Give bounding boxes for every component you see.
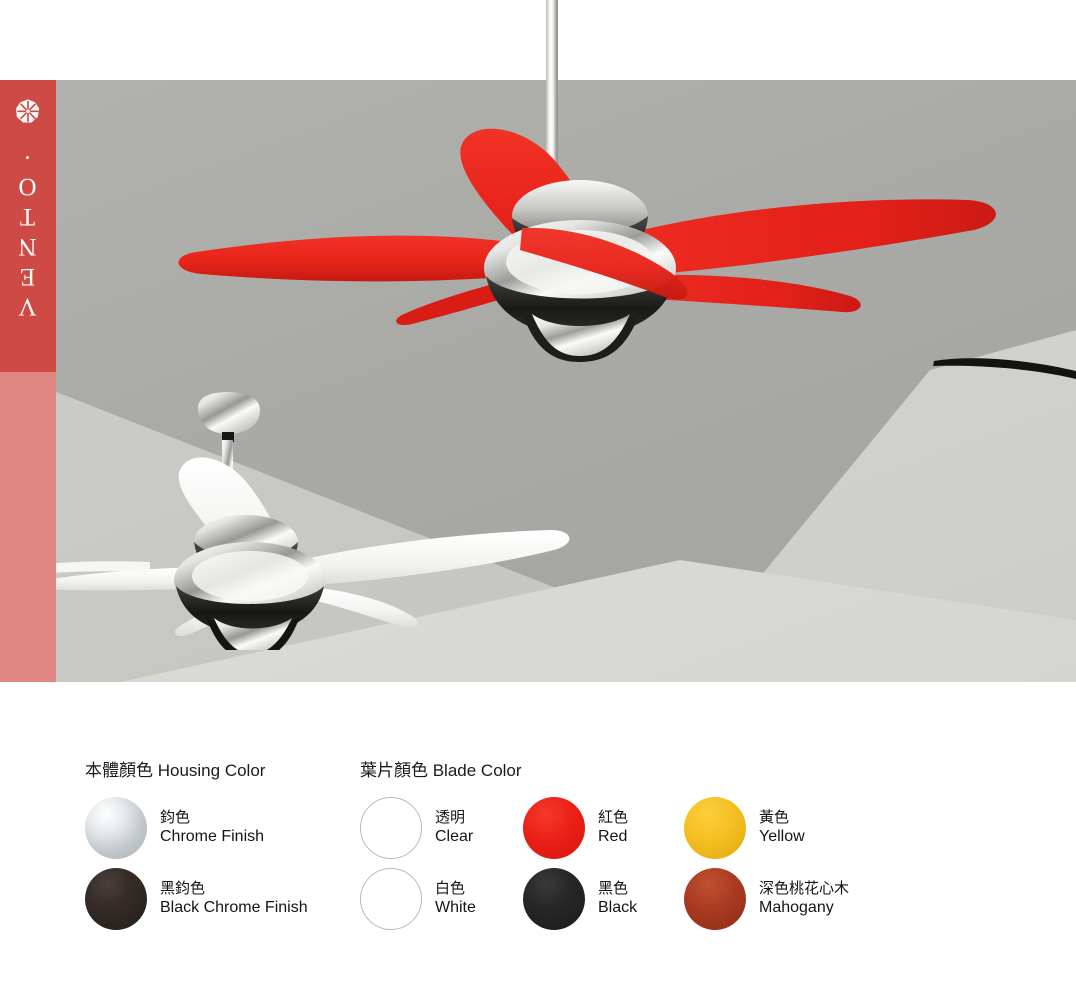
swatch-label-cn: 紅色 [598, 809, 628, 827]
swatch-label-cn: 黑色 [598, 880, 637, 898]
red-ceiling-fan [150, 100, 1010, 390]
brand-sidebar: VENTO· [0, 80, 56, 372]
photo-top-white-margin [0, 0, 1076, 80]
swatch-label-en: Black [598, 898, 637, 918]
brand-sidebar-lower [0, 370, 56, 682]
color-legend: 本體顏色 Housing Color 葉片顏色 Blade Color 鈞色 C… [0, 682, 1076, 1000]
swatch-clear-icon [360, 797, 422, 859]
swatch-option-yellow[interactable]: 黃色 Yellow [684, 797, 805, 859]
swatch-red-icon [523, 797, 585, 859]
flower-emblem-icon [14, 98, 42, 126]
white-ceiling-fan [50, 390, 610, 650]
swatch-yellow-icon [684, 797, 746, 859]
swatch-label-cn: 鈞色 [160, 809, 264, 827]
swatch-label-en: Black Chrome Finish [160, 898, 308, 918]
swatch-option-mahogany[interactable]: 深色桃花心木 Mahogany [684, 868, 849, 930]
product-photo: VENTO· [0, 0, 1076, 682]
swatch-chrome-finish-icon [85, 797, 147, 859]
swatch-option-red[interactable]: 紅色 Red [523, 797, 628, 859]
blade-color-heading: 葉片顏色 Blade Color [360, 756, 522, 781]
swatch-option-chrome-finish[interactable]: 鈞色 Chrome Finish [85, 797, 264, 859]
swatch-black-chrome-finish-icon [85, 868, 147, 930]
legend-headings: 本體顏色 Housing Color 葉片顏色 Blade Color [0, 756, 1076, 782]
swatch-label-en: Chrome Finish [160, 827, 264, 847]
swatch-label-en: Mahogany [759, 898, 849, 918]
swatch-label-en: White [435, 898, 476, 918]
swatch-black-icon [523, 868, 585, 930]
swatch-white-icon [360, 868, 422, 930]
swatch-option-black-chrome-finish[interactable]: 黑鈞色 Black Chrome Finish [85, 868, 308, 930]
swatch-label-en: Red [598, 827, 628, 847]
swatch-label-cn: 黃色 [759, 809, 805, 827]
swatch-option-black[interactable]: 黑色 Black [523, 868, 637, 930]
housing-color-heading: 本體顏色 Housing Color [85, 756, 265, 781]
swatch-option-white[interactable]: 白色 White [360, 868, 476, 930]
swatch-label-cn: 透明 [435, 809, 473, 827]
swatch-option-clear[interactable]: 透明 Clear [360, 797, 473, 859]
swatch-label-cn: 深色桃花心木 [759, 880, 849, 898]
swatch-label-cn: 黑鈞色 [160, 880, 308, 898]
swatch-label-en: Clear [435, 827, 473, 847]
brand-wordmark: VENTO· [14, 140, 42, 320]
swatch-label-en: Yellow [759, 827, 805, 847]
swatch-label-cn: 白色 [435, 880, 476, 898]
swatch-mahogany-icon [684, 868, 746, 930]
